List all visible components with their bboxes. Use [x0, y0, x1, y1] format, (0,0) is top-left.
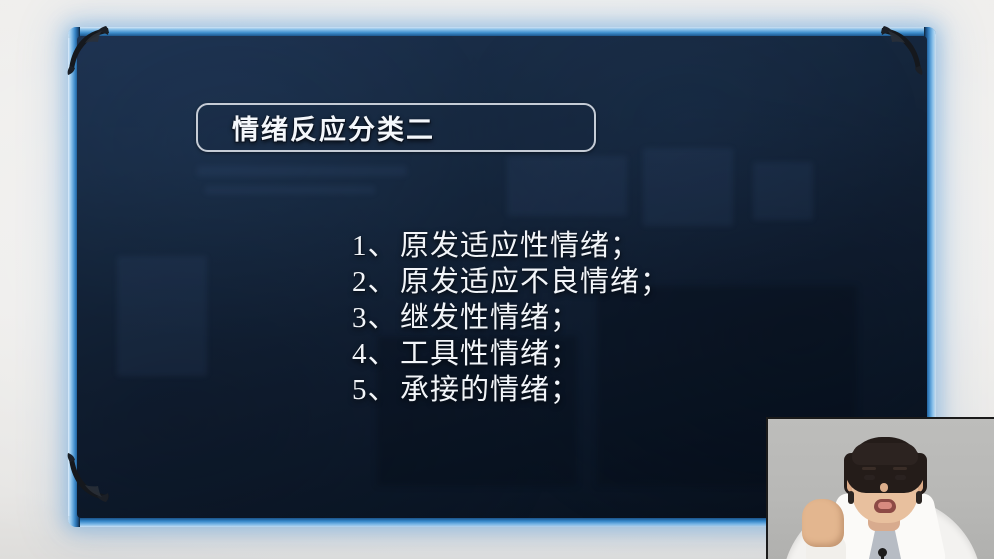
presenter-earring — [916, 491, 922, 504]
presenter-eye — [864, 475, 875, 480]
watermark-shape — [753, 162, 813, 220]
slide-bullet-list: 1、原发适应性情绪； 2、原发适应不良情绪； 3、继发性情绪； 4、工具性情绪；… — [352, 228, 822, 408]
watermark-shape — [643, 148, 733, 226]
list-item-label: 承接的情绪； — [400, 374, 580, 406]
list-item-number: 2、 — [352, 264, 400, 300]
presenter-earring — [848, 491, 854, 504]
list-item: 5、承接的情绪； — [352, 372, 822, 408]
list-item: 4、工具性情绪； — [352, 336, 822, 372]
watermark-shape — [197, 166, 407, 176]
watermark-shape — [117, 256, 207, 376]
presenter-eyebrow — [893, 467, 907, 470]
presenter-nose — [880, 483, 888, 492]
presenter-hand — [802, 499, 844, 547]
presenter-eyebrow — [862, 467, 876, 470]
list-item: 2、原发适应不良情绪； — [352, 264, 822, 300]
list-item-label: 工具性情绪； — [400, 338, 580, 370]
presenter-mouth — [874, 499, 896, 513]
slide-title: 情绪反应分类二 — [232, 108, 435, 147]
watermark-shape — [205, 186, 375, 194]
watermark-shape — [507, 156, 627, 216]
screenshot-root: 情绪反应分类二 1、原发适应性情绪； 2、原发适应不良情绪； 3、继发性情绪； … — [0, 0, 994, 559]
list-item-number: 1、 — [352, 228, 400, 264]
list-item-number: 5、 — [352, 372, 400, 408]
list-item-number: 4、 — [352, 336, 400, 372]
presenter-video-overlay[interactable] — [766, 417, 994, 559]
presenter-hair-fringe — [852, 443, 918, 465]
presenter-eye — [895, 475, 906, 480]
list-item-number: 3、 — [352, 300, 400, 336]
list-item: 1、原发适应性情绪； — [352, 228, 822, 264]
list-item-label: 继发性情绪； — [400, 302, 580, 334]
list-item-label: 原发适应性情绪； — [400, 230, 640, 262]
lapel-microphone-icon — [878, 548, 887, 557]
list-item: 3、继发性情绪； — [352, 300, 822, 336]
list-item-label: 原发适应不良情绪； — [400, 266, 670, 298]
